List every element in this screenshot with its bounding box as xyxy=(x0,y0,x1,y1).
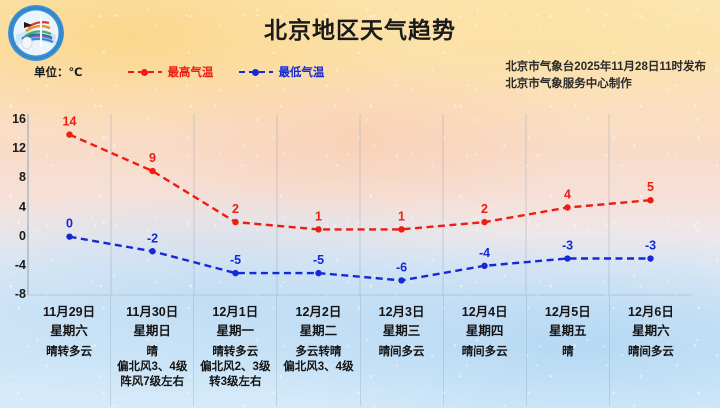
y-axis-tick-label: 8 xyxy=(0,170,26,184)
low-temp-value-label: -5 xyxy=(313,253,324,267)
page-title: 北京地区天气趋势 xyxy=(0,11,720,45)
low-temp-value-label: -5 xyxy=(230,253,241,267)
high-temp-value-label: 2 xyxy=(232,202,239,216)
forecast-date: 12月2日 xyxy=(277,304,359,321)
forecast-sky-condition: 晴间多云 xyxy=(444,345,526,360)
high-temp-point xyxy=(149,168,155,174)
low-temp-point xyxy=(564,255,570,261)
temperature-line-chart: 1492112450-2-5-5-6-4-3-3 1612840-4-8 xyxy=(0,104,720,302)
forecast-wind-condition: 偏北风3、4级 xyxy=(277,360,359,375)
low-temp-point xyxy=(149,248,155,254)
high-temp-value-label: 5 xyxy=(647,180,654,194)
forecast-wind-condition: 转3级左右 xyxy=(194,375,276,390)
low-temp-value-label: -3 xyxy=(562,239,573,253)
low-temp-value-label: -3 xyxy=(645,239,656,253)
forecast-day-column: 12月2日星期二多云转晴偏北风3、4级 xyxy=(277,296,360,406)
forecast-weekday: 星期五 xyxy=(527,321,609,342)
legend-label-high: 最高气温 xyxy=(167,64,213,80)
y-axis-tick-label: 16 xyxy=(0,112,26,126)
forecast-day-column: 12月5日星期五晴 xyxy=(527,296,610,406)
legend-item-high-temp: 最高气温 xyxy=(128,64,213,80)
forecast-weekday: 星期日 xyxy=(111,321,193,342)
low-temp-point xyxy=(398,277,404,283)
forecast-sky-condition: 晴转多云 xyxy=(28,345,110,360)
unit-label: 单位：℃ xyxy=(34,64,82,80)
chart-legend: 单位：℃ 最高气温 最低气温 xyxy=(34,64,350,80)
publisher-issue-line: 北京市气象台2025年11月28日11时发布 xyxy=(505,59,706,76)
low-temp-point xyxy=(481,263,487,269)
high-temp-point xyxy=(398,226,404,232)
high-temp-value-label: 2 xyxy=(481,202,488,216)
low-temp-point xyxy=(232,270,238,276)
legend-label-low: 最低气温 xyxy=(278,64,324,80)
forecast-day-column: 11月29日星期六晴转多云 xyxy=(28,296,111,406)
forecast-weekday: 星期六 xyxy=(610,321,692,342)
forecast-sky-condition: 晴 xyxy=(527,345,609,360)
high-temp-value-label: 14 xyxy=(63,115,77,129)
forecast-day-column: 11月30日星期日晴偏北风3、4级阵风7级左右 xyxy=(111,296,194,406)
forecast-date: 12月3日 xyxy=(361,304,443,321)
y-axis-tick-label: 4 xyxy=(0,200,26,214)
low-temp-value-label: -4 xyxy=(479,246,490,260)
forecast-sky-condition: 晴 xyxy=(111,345,193,360)
forecast-sky-condition: 晴间多云 xyxy=(361,345,443,360)
legend-item-low-temp: 最低气温 xyxy=(239,64,324,80)
y-axis-tick-label: -4 xyxy=(0,258,26,272)
legend-swatch-low-icon xyxy=(239,67,273,77)
forecast-weekday: 星期三 xyxy=(361,321,443,342)
forecast-day-column: 12月6日星期六晴间多云 xyxy=(610,296,692,406)
y-axis-tick-label: 0 xyxy=(0,229,26,243)
high-temp-value-label: 4 xyxy=(564,188,571,202)
publisher-producer-line: 北京市气象服务中心制作 xyxy=(505,76,706,93)
low-temp-point xyxy=(315,270,321,276)
forecast-date: 11月30日 xyxy=(111,304,193,321)
high-temp-point xyxy=(232,219,238,225)
forecast-sky-condition: 多云转晴 xyxy=(277,345,359,360)
forecast-date: 12月5日 xyxy=(527,304,609,321)
high-temp-point xyxy=(564,204,570,210)
high-temp-point xyxy=(481,219,487,225)
forecast-weekday: 星期六 xyxy=(28,321,110,342)
forecast-wind-condition: 偏北风3、4级 xyxy=(111,360,193,375)
chart-plot-area: 1492112450-2-5-5-6-4-3-3 xyxy=(0,104,720,302)
forecast-weekday: 星期四 xyxy=(444,321,526,342)
forecast-date: 12月4日 xyxy=(444,304,526,321)
forecast-date: 12月6日 xyxy=(610,304,692,321)
forecast-day-column: 12月3日星期三晴间多云 xyxy=(361,296,444,406)
legend-swatch-high-icon xyxy=(128,67,162,77)
forecast-wind-condition: 偏北风2、3级 xyxy=(194,360,276,375)
forecast-wind-condition: 阵风7级左右 xyxy=(111,375,193,390)
low-temp-point xyxy=(647,255,653,261)
forecast-day-column: 12月4日星期四晴间多云 xyxy=(444,296,527,406)
forecast-sky-condition: 晴间多云 xyxy=(610,345,692,360)
forecast-day-columns: 11月29日星期六晴转多云11月30日星期日晴偏北风3、4级阵风7级左右12月1… xyxy=(28,296,692,406)
forecast-weekday: 星期二 xyxy=(277,321,359,342)
forecast-weekday: 星期一 xyxy=(194,321,276,342)
y-axis-tick-label: -8 xyxy=(0,287,26,301)
high-temp-point xyxy=(647,197,653,203)
weather-trend-infographic: 北京地区天气趋势 单位：℃ 最高气温 最低气温 北京市气象台2025年11月28… xyxy=(0,0,720,408)
forecast-date: 12月1日 xyxy=(194,304,276,321)
high-temp-value-label: 9 xyxy=(149,151,156,165)
forecast-sky-condition: 晴转多云 xyxy=(194,345,276,360)
publisher-info: 北京市气象台2025年11月28日11时发布 北京市气象服务中心制作 xyxy=(505,59,706,93)
forecast-day-column: 12月1日星期一晴转多云偏北风2、3级转3级左右 xyxy=(194,296,277,406)
low-temp-value-label: -6 xyxy=(396,260,407,274)
low-temp-point xyxy=(66,233,72,239)
high-temp-point xyxy=(66,131,72,137)
high-temp-value-label: 1 xyxy=(315,209,322,223)
low-temp-value-label: 0 xyxy=(66,217,73,231)
y-axis-tick-label: 12 xyxy=(0,141,26,155)
low-temp-value-label: -2 xyxy=(147,231,158,245)
forecast-date: 11月29日 xyxy=(28,304,110,321)
high-temp-point xyxy=(315,226,321,232)
high-temp-value-label: 1 xyxy=(398,209,405,223)
